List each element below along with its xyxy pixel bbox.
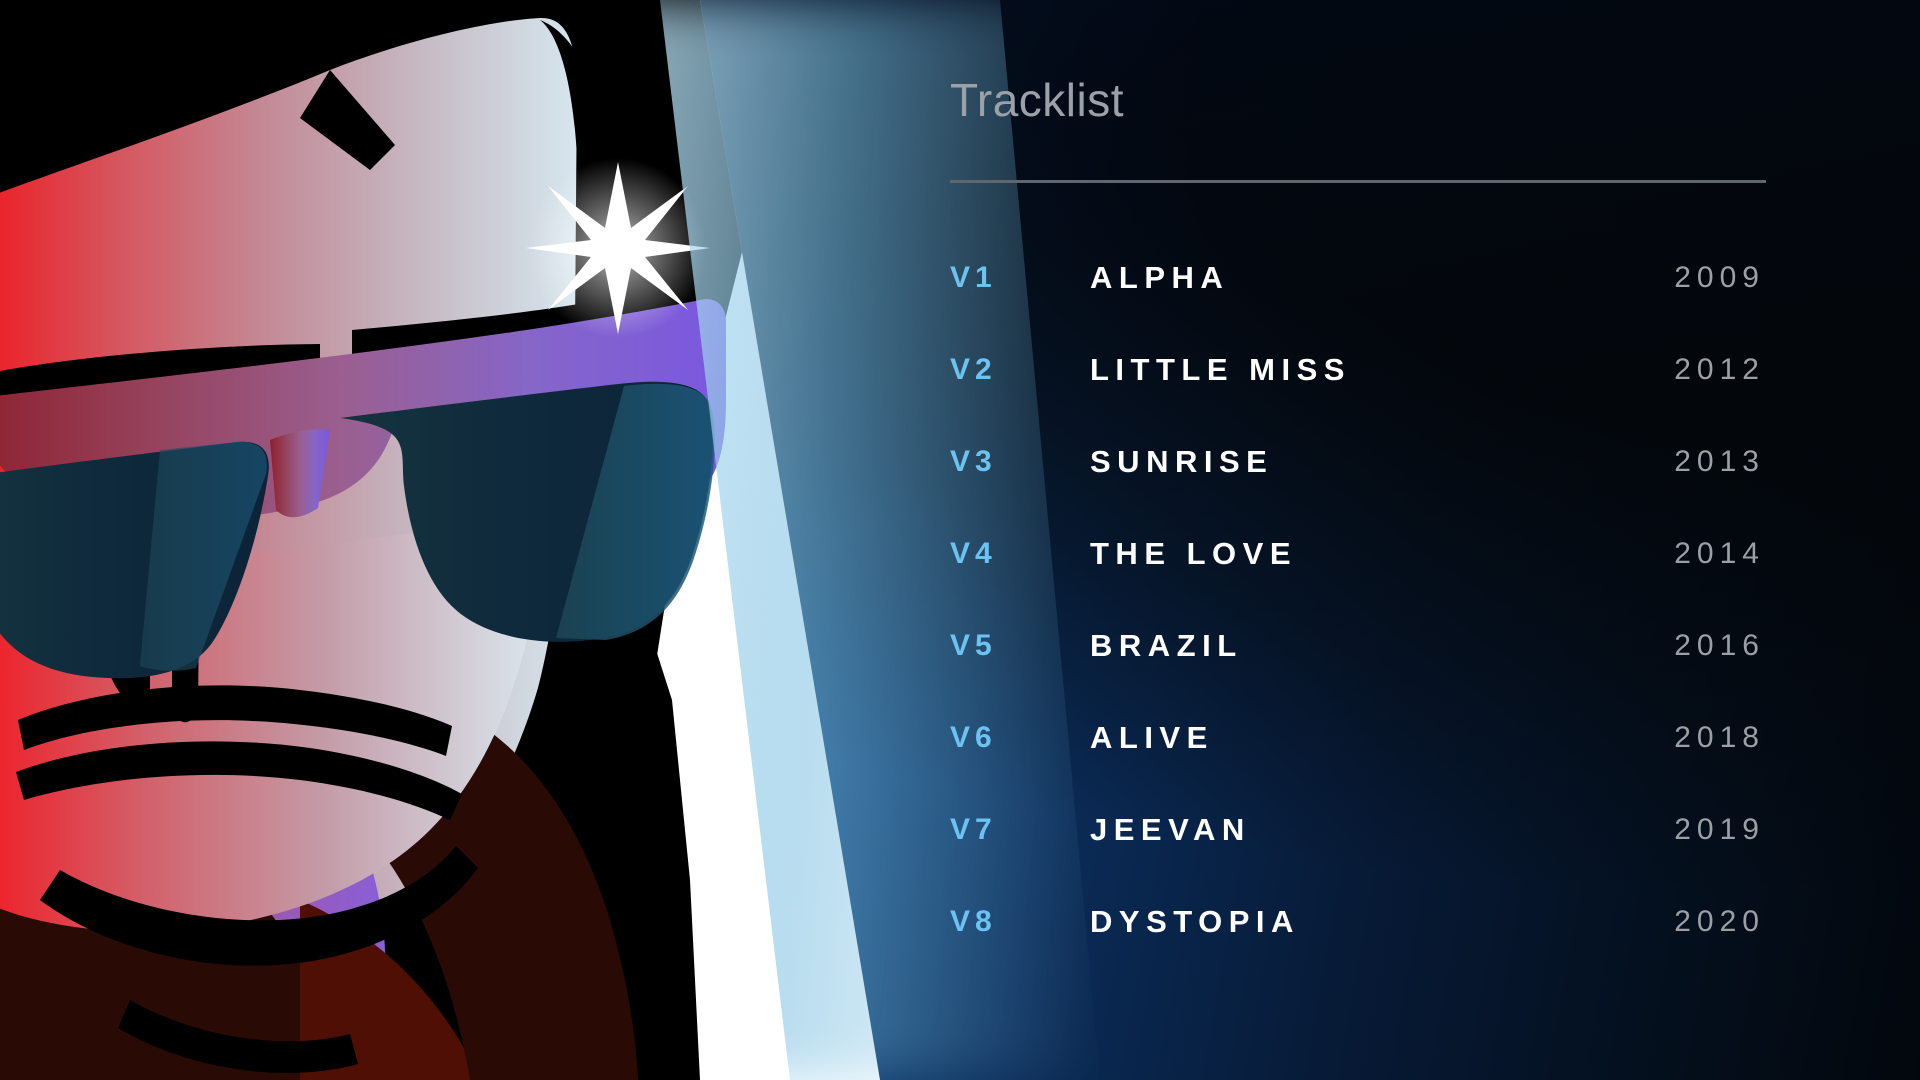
track-title: LITTLE MISS — [1090, 352, 1674, 388]
track-title: DYSTOPIA — [1090, 904, 1674, 940]
table-row[interactable]: V8 DYSTOPIA 2020 — [950, 876, 1766, 968]
page-title: Tracklist — [950, 77, 1124, 123]
track-year: 2014 — [1674, 537, 1766, 571]
track-id: V2 — [950, 353, 1090, 387]
track-id: V5 — [950, 629, 1090, 663]
table-row[interactable]: V7 JEEVAN 2019 — [950, 784, 1766, 876]
track-title: ALIVE — [1090, 720, 1674, 756]
track-id: V1 — [950, 261, 1090, 295]
track-id: V8 — [950, 905, 1090, 939]
slide-canvas: Tracklist V1 ALPHA 2009 V2 LITTLE MISS 2… — [0, 0, 1920, 1080]
table-row[interactable]: V5 BRAZIL 2016 — [950, 600, 1766, 692]
track-year: 2018 — [1674, 721, 1766, 755]
track-year: 2009 — [1674, 261, 1766, 295]
track-year: 2012 — [1674, 353, 1766, 387]
table-row[interactable]: V3 SUNRISE 2013 — [950, 416, 1766, 508]
track-id: V7 — [950, 813, 1090, 847]
title-divider — [950, 180, 1766, 183]
track-title: THE LOVE — [1090, 536, 1674, 572]
track-year: 2013 — [1674, 445, 1766, 479]
track-year: 2016 — [1674, 629, 1766, 663]
table-row[interactable]: V1 ALPHA 2009 — [950, 232, 1766, 324]
track-title: BRAZIL — [1090, 628, 1674, 664]
track-title: ALPHA — [1090, 260, 1674, 296]
track-title: JEEVAN — [1090, 812, 1674, 848]
table-row[interactable]: V6 ALIVE 2018 — [950, 692, 1766, 784]
track-id: V4 — [950, 537, 1090, 571]
track-id: V3 — [950, 445, 1090, 479]
table-row[interactable]: V4 THE LOVE 2014 — [950, 508, 1766, 600]
track-id: V6 — [950, 721, 1090, 755]
track-year: 2019 — [1674, 813, 1766, 847]
tracklist-panel: Tracklist V1 ALPHA 2009 V2 LITTLE MISS 2… — [950, 0, 1770, 1080]
track-year: 2020 — [1674, 905, 1766, 939]
table-row[interactable]: V2 LITTLE MISS 2012 — [950, 324, 1766, 416]
tracklist-table: V1 ALPHA 2009 V2 LITTLE MISS 2012 V3 SUN… — [950, 232, 1766, 968]
track-title: SUNRISE — [1090, 444, 1674, 480]
